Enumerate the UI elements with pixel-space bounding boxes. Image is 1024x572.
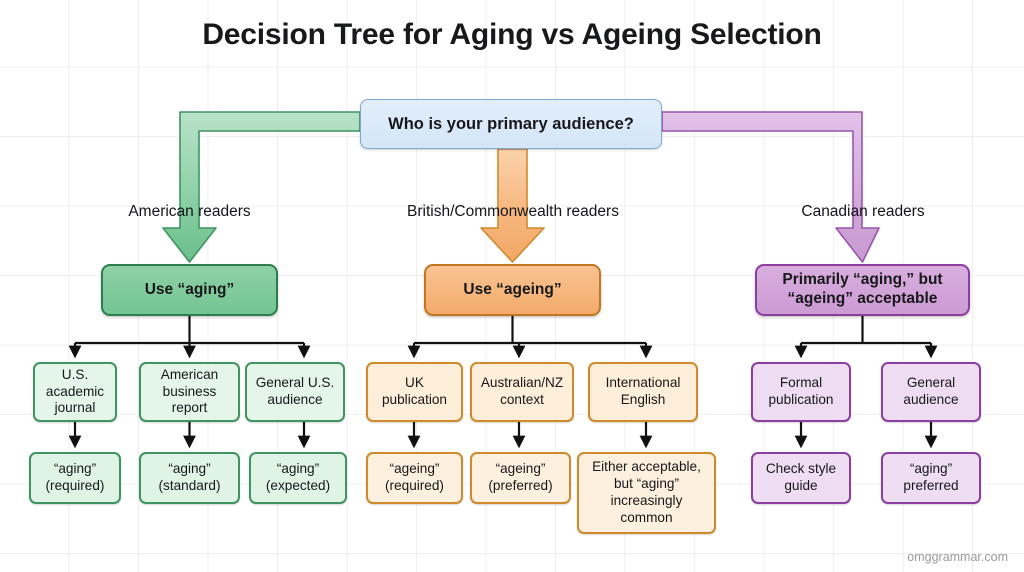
outcome-aging-required[interactable]: “aging” (required) bbox=[29, 452, 121, 504]
page-title: Decision Tree for Aging vs Ageing Select… bbox=[0, 18, 1024, 52]
connectors-orange-lvl3 bbox=[414, 316, 646, 352]
category-formal-publication[interactable]: Formal publication bbox=[751, 362, 851, 422]
category-general-audience[interactable]: General audience bbox=[881, 362, 981, 422]
category-international-english[interactable]: International English bbox=[588, 362, 698, 422]
category-us-academic-journal[interactable]: U.S. academic journal bbox=[33, 362, 117, 422]
root-decision-node[interactable]: Who is your primary audience? bbox=[360, 99, 662, 149]
branch-arrow-canadian bbox=[662, 112, 879, 262]
category-uk-publication[interactable]: UK publication bbox=[366, 362, 463, 422]
outcome-aging-standard[interactable]: “aging” (standard) bbox=[139, 452, 240, 504]
branch-arrow-american bbox=[163, 112, 360, 262]
edge-label-canadian: Canadian readers bbox=[768, 203, 958, 221]
decision-node-primarily-aging[interactable]: Primarily “aging,” but “ageing” acceptab… bbox=[755, 264, 970, 316]
connectors-green-lvl4 bbox=[75, 422, 304, 442]
category-american-business-report[interactable]: American business report bbox=[139, 362, 240, 422]
edge-label-british: British/Commonwealth readers bbox=[373, 203, 653, 221]
category-australian-nz-context[interactable]: Australian/NZ context bbox=[470, 362, 574, 422]
outcome-aging-expected[interactable]: “aging” (expected) bbox=[249, 452, 347, 504]
outcome-check-style-guide[interactable]: Check style guide bbox=[751, 452, 851, 504]
outcome-ageing-preferred[interactable]: “ageing” (preferred) bbox=[470, 452, 571, 504]
diagram-canvas: Decision Tree for Aging vs Ageing Select… bbox=[0, 0, 1024, 572]
category-general-us-audience[interactable]: General U.S. audience bbox=[245, 362, 345, 422]
connectors-orange-lvl4 bbox=[414, 422, 646, 442]
watermark: omggrammar.com bbox=[907, 550, 1008, 564]
connectors-purple-lvl3 bbox=[801, 316, 931, 352]
outcome-ageing-required[interactable]: “ageing” (required) bbox=[366, 452, 463, 504]
outcome-either-acceptable[interactable]: Either acceptable, but “aging” increasin… bbox=[577, 452, 716, 534]
outcome-aging-preferred[interactable]: “aging” preferred bbox=[881, 452, 981, 504]
edge-label-american: American readers bbox=[92, 203, 287, 221]
connectors-purple-lvl4 bbox=[801, 422, 931, 442]
decision-node-use-aging[interactable]: Use “aging” bbox=[101, 264, 278, 316]
connectors-green-lvl3 bbox=[75, 316, 304, 352]
decision-node-use-ageing[interactable]: Use “ageing” bbox=[424, 264, 601, 316]
